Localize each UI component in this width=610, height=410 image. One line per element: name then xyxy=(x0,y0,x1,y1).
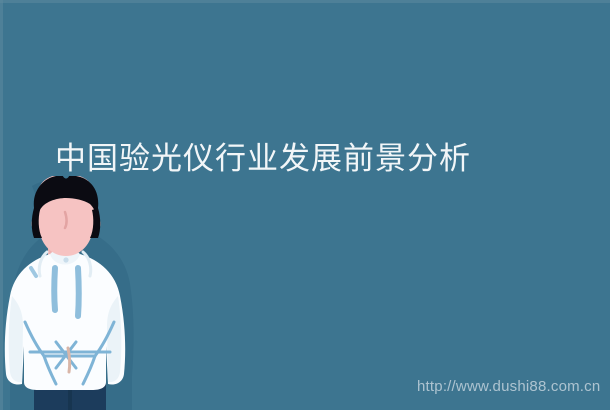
page-title: 中国验光仪行业发展前景分析 xyxy=(0,139,610,179)
slide-canvas: 中国验光仪行业发展前景分析 http://www.dushi88.com.cn xyxy=(0,0,610,410)
drawstring-knot xyxy=(68,348,70,372)
watermark-url: http://www.dushi88.com.cn xyxy=(417,377,600,397)
person-illustration xyxy=(0,176,140,410)
top-edge-band xyxy=(0,0,610,3)
